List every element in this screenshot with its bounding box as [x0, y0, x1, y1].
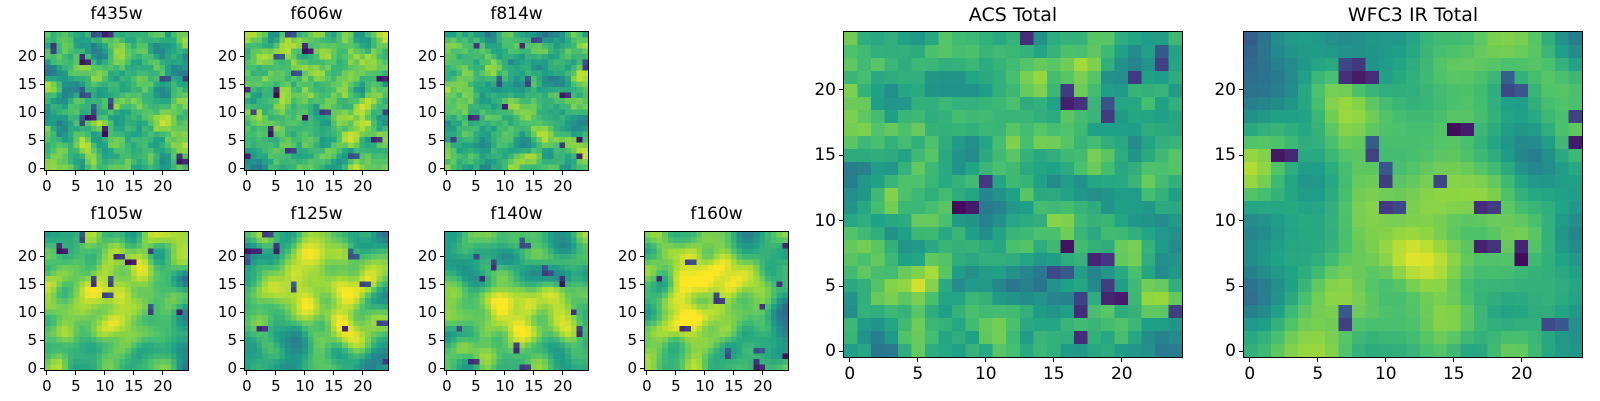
- ytick-mark: [839, 286, 843, 287]
- xtick-label: 20: [353, 377, 372, 395]
- panel-title-f105w: f105w: [44, 204, 189, 224]
- xtick-mark: [75, 371, 76, 375]
- xtick-mark: [46, 371, 47, 375]
- xtick-label: 10: [495, 377, 514, 395]
- xtick-label: 10: [95, 377, 114, 395]
- xtick-label: 10: [695, 377, 714, 395]
- heatmap-f140w[interactable]: [444, 231, 589, 371]
- xtick-label: 20: [753, 377, 772, 395]
- xtick-label: 15: [1443, 364, 1465, 384]
- xtick-mark: [533, 371, 534, 375]
- ytick-label: 10: [797, 211, 836, 231]
- xtick-label: 5: [1312, 364, 1323, 384]
- xtick-label: 20: [353, 177, 372, 195]
- panel-f814w: f814w0510152005101520: [404, 1, 595, 201]
- ytick-label: 0: [797, 341, 836, 361]
- panel-wfc3ir: WFC3 IR Total0510152005101520: [1197, 1, 1589, 388]
- heatmap-canvas-acs: [844, 32, 1182, 357]
- ytick-mark: [40, 56, 44, 57]
- xtick-label: 5: [271, 177, 281, 195]
- xtick-mark: [133, 171, 134, 175]
- ytick-mark: [440, 140, 444, 141]
- xtick-label: 20: [553, 177, 572, 195]
- ytick-mark: [640, 340, 644, 341]
- panel-f105w: f105w0510152005101520: [4, 201, 195, 401]
- xtick-mark: [333, 171, 334, 175]
- heatmap-wfc3ir[interactable]: [1243, 31, 1583, 358]
- xtick-mark: [304, 171, 305, 175]
- panel-f606w: f606w0510152005101520: [204, 1, 395, 201]
- heatmap-f814w[interactable]: [444, 31, 589, 171]
- ytick-label: 10: [4, 103, 37, 121]
- ytick-mark: [40, 340, 44, 341]
- ytick-mark: [440, 168, 444, 169]
- heatmap-canvas-f140w: [445, 232, 588, 370]
- ytick-mark: [40, 312, 44, 313]
- heatmap-canvas-f435w: [45, 32, 188, 170]
- xtick-label: 20: [153, 177, 172, 195]
- ytick-mark: [440, 112, 444, 113]
- xtick-mark: [246, 371, 247, 375]
- panel-title-f160w: f160w: [644, 204, 789, 224]
- ytick-label: 5: [604, 331, 637, 349]
- xtick-mark: [675, 371, 676, 375]
- ytick-mark: [640, 284, 644, 285]
- ytick-label: 15: [1197, 145, 1236, 165]
- xtick-mark: [504, 371, 505, 375]
- panel-f160w: f160w0510152005101520: [604, 201, 795, 401]
- ytick-mark: [440, 368, 444, 369]
- panel-title-f125w: f125w: [244, 204, 389, 224]
- ytick-mark: [240, 312, 244, 313]
- ytick-label: 20: [404, 247, 437, 265]
- ytick-label: 15: [204, 75, 237, 93]
- ytick-mark: [40, 256, 44, 257]
- xtick-mark: [475, 171, 476, 175]
- ytick-label: 10: [404, 303, 437, 321]
- ytick-label: 5: [797, 276, 836, 296]
- ytick-label: 5: [204, 131, 237, 149]
- ytick-label: 15: [204, 275, 237, 293]
- xtick-label: 10: [975, 364, 997, 384]
- panel-f125w: f125w0510152005101520: [204, 201, 395, 401]
- ytick-label: 15: [797, 145, 836, 165]
- heatmap-canvas-f160w: [645, 232, 788, 370]
- figure-canvas: f435w0510152005101520f606w05101520051015…: [0, 0, 1600, 400]
- panel-f435w: f435w0510152005101520: [4, 1, 195, 201]
- xtick-mark: [1121, 358, 1122, 362]
- ytick-label: 20: [797, 80, 836, 100]
- ytick-label: 5: [4, 131, 37, 149]
- xtick-label: 5: [71, 377, 81, 395]
- xtick-label: 5: [271, 377, 281, 395]
- ytick-label: 0: [604, 359, 637, 377]
- panel-acs: ACS Total0510152005101520: [797, 1, 1189, 388]
- ytick-mark: [240, 256, 244, 257]
- xtick-label: 15: [324, 177, 343, 195]
- ytick-label: 5: [4, 331, 37, 349]
- ytick-label: 20: [1197, 80, 1236, 100]
- ytick-mark: [1239, 351, 1243, 352]
- xtick-label: 15: [124, 377, 143, 395]
- panel-title-f140w: f140w: [444, 204, 589, 224]
- xtick-mark: [104, 171, 105, 175]
- ytick-mark: [40, 84, 44, 85]
- xtick-label: 20: [553, 377, 572, 395]
- ytick-mark: [1239, 286, 1243, 287]
- xtick-mark: [275, 171, 276, 175]
- xtick-label: 5: [471, 177, 481, 195]
- ytick-mark: [40, 368, 44, 369]
- heatmap-f435w[interactable]: [44, 31, 189, 171]
- ytick-mark: [240, 284, 244, 285]
- xtick-mark: [304, 371, 305, 375]
- ytick-mark: [839, 155, 843, 156]
- heatmap-canvas-f814w: [445, 32, 588, 170]
- xtick-label: 15: [324, 377, 343, 395]
- ytick-label: 15: [4, 275, 37, 293]
- ytick-mark: [640, 368, 644, 369]
- xtick-mark: [1521, 358, 1522, 362]
- panel-title-wfc3ir: WFC3 IR Total: [1243, 4, 1583, 26]
- xtick-mark: [733, 371, 734, 375]
- ytick-mark: [440, 340, 444, 341]
- ytick-label: 15: [404, 275, 437, 293]
- ytick-label: 10: [4, 303, 37, 321]
- xtick-label: 15: [1043, 364, 1065, 384]
- ytick-mark: [240, 340, 244, 341]
- ytick-mark: [240, 168, 244, 169]
- heatmap-canvas-f125w: [245, 232, 388, 370]
- heatmap-f606w[interactable]: [244, 31, 389, 171]
- xtick-label: 0: [844, 364, 855, 384]
- panel-title-acs: ACS Total: [843, 4, 1183, 26]
- xtick-mark: [475, 371, 476, 375]
- xtick-label: 0: [1244, 364, 1255, 384]
- ytick-mark: [1239, 89, 1243, 90]
- ytick-label: 0: [1197, 341, 1236, 361]
- heatmap-canvas-wfc3ir: [1244, 32, 1582, 357]
- ytick-label: 0: [4, 159, 37, 177]
- ytick-label: 10: [204, 303, 237, 321]
- xtick-label: 0: [242, 177, 252, 195]
- xtick-mark: [446, 171, 447, 175]
- ytick-label: 15: [604, 275, 637, 293]
- ytick-label: 10: [1197, 211, 1236, 231]
- xtick-label: 5: [912, 364, 923, 384]
- heatmap-canvas-f105w: [45, 232, 188, 370]
- ytick-label: 5: [1197, 276, 1236, 296]
- xtick-label: 10: [295, 377, 314, 395]
- ytick-mark: [40, 112, 44, 113]
- heatmap-canvas-f606w: [245, 32, 388, 170]
- xtick-mark: [762, 371, 763, 375]
- ytick-label: 0: [204, 159, 237, 177]
- ytick-mark: [640, 256, 644, 257]
- ytick-label: 20: [404, 47, 437, 65]
- xtick-label: 10: [295, 177, 314, 195]
- ytick-label: 20: [604, 247, 637, 265]
- ytick-mark: [240, 368, 244, 369]
- xtick-mark: [162, 171, 163, 175]
- ytick-mark: [839, 220, 843, 221]
- xtick-label: 20: [1111, 364, 1133, 384]
- panel-f140w: f140w0510152005101520: [404, 201, 595, 401]
- xtick-label: 15: [524, 377, 543, 395]
- xtick-label: 5: [671, 377, 681, 395]
- ytick-label: 20: [204, 247, 237, 265]
- ytick-label: 20: [4, 247, 37, 265]
- xtick-label: 0: [642, 377, 652, 395]
- ytick-mark: [240, 56, 244, 57]
- xtick-mark: [1385, 358, 1386, 362]
- ytick-mark: [1239, 155, 1243, 156]
- ytick-label: 0: [404, 359, 437, 377]
- ytick-label: 20: [204, 47, 237, 65]
- xtick-mark: [333, 371, 334, 375]
- ytick-label: 10: [604, 303, 637, 321]
- xtick-mark: [446, 371, 447, 375]
- ytick-mark: [440, 284, 444, 285]
- xtick-mark: [362, 171, 363, 175]
- ytick-mark: [440, 84, 444, 85]
- xtick-mark: [562, 171, 563, 175]
- ytick-mark: [839, 89, 843, 90]
- xtick-label: 20: [1511, 364, 1533, 384]
- xtick-label: 10: [495, 177, 514, 195]
- ytick-label: 5: [404, 331, 437, 349]
- ytick-mark: [240, 140, 244, 141]
- ytick-label: 0: [404, 159, 437, 177]
- xtick-mark: [162, 371, 163, 375]
- xtick-label: 0: [442, 377, 452, 395]
- xtick-label: 0: [42, 377, 52, 395]
- ytick-label: 0: [204, 359, 237, 377]
- ytick-mark: [440, 256, 444, 257]
- ytick-mark: [440, 56, 444, 57]
- xtick-label: 5: [471, 377, 481, 395]
- xtick-label: 10: [1375, 364, 1397, 384]
- ytick-mark: [440, 312, 444, 313]
- xtick-mark: [704, 371, 705, 375]
- ytick-label: 10: [404, 103, 437, 121]
- ytick-mark: [40, 140, 44, 141]
- ytick-label: 5: [404, 131, 437, 149]
- xtick-label: 0: [42, 177, 52, 195]
- xtick-mark: [46, 171, 47, 175]
- xtick-mark: [362, 371, 363, 375]
- xtick-mark: [275, 371, 276, 375]
- panel-title-f814w: f814w: [444, 4, 589, 24]
- heatmap-f125w[interactable]: [244, 231, 389, 371]
- ytick-mark: [240, 112, 244, 113]
- heatmap-acs[interactable]: [843, 31, 1183, 358]
- xtick-label: 5: [71, 177, 81, 195]
- ytick-label: 10: [204, 103, 237, 121]
- xtick-mark: [562, 371, 563, 375]
- xtick-mark: [917, 358, 918, 362]
- ytick-mark: [240, 84, 244, 85]
- xtick-mark: [985, 358, 986, 362]
- xtick-mark: [533, 171, 534, 175]
- xtick-mark: [1249, 358, 1250, 362]
- ytick-label: 15: [4, 75, 37, 93]
- ytick-mark: [40, 168, 44, 169]
- ytick-label: 5: [204, 331, 237, 349]
- xtick-mark: [104, 371, 105, 375]
- ytick-label: 20: [4, 47, 37, 65]
- xtick-mark: [1317, 358, 1318, 362]
- xtick-label: 10: [95, 177, 114, 195]
- ytick-mark: [1239, 220, 1243, 221]
- xtick-label: 0: [242, 377, 252, 395]
- heatmap-f105w[interactable]: [44, 231, 189, 371]
- xtick-mark: [246, 171, 247, 175]
- ytick-mark: [640, 312, 644, 313]
- xtick-label: 0: [442, 177, 452, 195]
- xtick-label: 15: [124, 177, 143, 195]
- xtick-mark: [75, 171, 76, 175]
- xtick-mark: [1453, 358, 1454, 362]
- xtick-mark: [1053, 358, 1054, 362]
- ytick-label: 0: [4, 359, 37, 377]
- ytick-mark: [839, 351, 843, 352]
- panel-title-f435w: f435w: [44, 4, 189, 24]
- xtick-mark: [504, 171, 505, 175]
- xtick-label: 15: [724, 377, 743, 395]
- xtick-label: 20: [153, 377, 172, 395]
- heatmap-f160w[interactable]: [644, 231, 789, 371]
- xtick-mark: [133, 371, 134, 375]
- ytick-label: 15: [404, 75, 437, 93]
- ytick-mark: [40, 284, 44, 285]
- xtick-label: 15: [524, 177, 543, 195]
- xtick-mark: [849, 358, 850, 362]
- xtick-mark: [646, 371, 647, 375]
- panel-title-f606w: f606w: [244, 4, 389, 24]
